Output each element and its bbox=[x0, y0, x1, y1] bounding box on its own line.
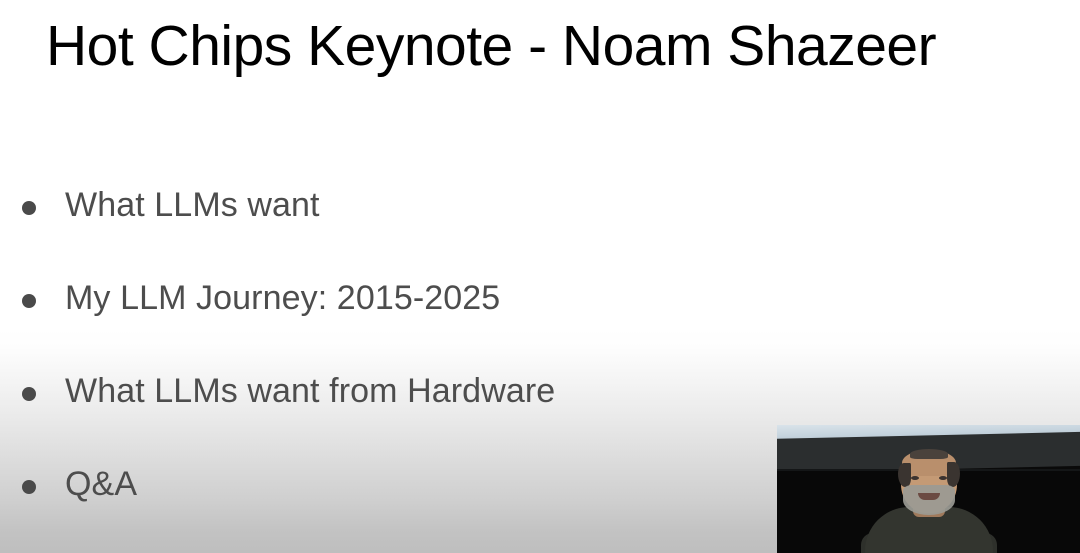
bullet-dot-icon bbox=[22, 480, 36, 494]
speaker-hair-left bbox=[898, 463, 911, 487]
list-item: My LLM Journey: 2015-2025 bbox=[0, 276, 760, 369]
list-item: Q&A bbox=[0, 462, 760, 553]
speaker-hair-top bbox=[910, 449, 948, 459]
bullet-item-label: My LLM Journey: 2015-2025 bbox=[65, 276, 500, 320]
speaker-mouth bbox=[918, 493, 940, 500]
speaker-video-inset[interactable] bbox=[777, 425, 1080, 553]
speaker-hair-right bbox=[947, 462, 960, 487]
speaker-beard bbox=[903, 485, 955, 515]
presentation-slide: Hot Chips Keynote - Noam Shazeer What LL… bbox=[0, 0, 1080, 553]
speaker-figure bbox=[861, 449, 997, 553]
list-item: What LLMs want from Hardware bbox=[0, 369, 760, 462]
list-item: What LLMs want bbox=[0, 183, 760, 276]
bullet-dot-icon bbox=[22, 201, 36, 215]
bullet-dot-icon bbox=[22, 294, 36, 308]
page-title: Hot Chips Keynote - Noam Shazeer bbox=[46, 17, 936, 77]
bullet-dot-icon bbox=[22, 387, 36, 401]
speaker-eye-right bbox=[939, 476, 947, 480]
bullet-item-label: What LLMs want from Hardware bbox=[65, 369, 555, 413]
bullet-item-label: Q&A bbox=[65, 462, 137, 506]
bullet-item-label: What LLMs want bbox=[65, 183, 320, 227]
agenda-bullet-list: What LLMs want My LLM Journey: 2015-2025… bbox=[0, 183, 760, 553]
speaker-eye-left bbox=[911, 476, 919, 480]
